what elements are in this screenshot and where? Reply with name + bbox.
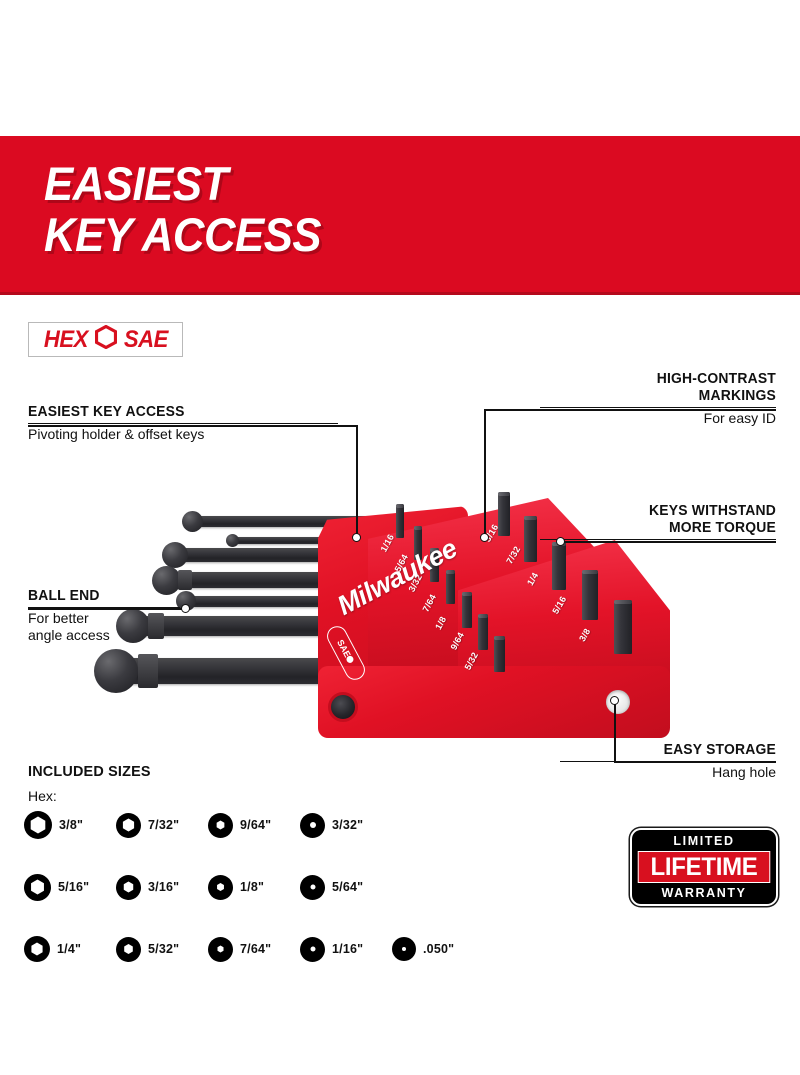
leader-line-easiest-key-access: [28, 425, 358, 427]
included-sizes-title: INCLUDED SIZES: [28, 763, 151, 780]
size-cell: 3/8": [24, 808, 116, 842]
hex-size-icon: [24, 811, 52, 839]
hex-size-icon: [116, 813, 141, 838]
leader-dot-easiest-key-access: [352, 533, 361, 542]
lifetime-warranty-badge: LIMITED LIFETIME WARRANTY: [630, 828, 778, 906]
leader-line-easy-storage: [614, 761, 776, 763]
leader-dot-easy-storage: [610, 696, 619, 705]
callout-subtitle: For better angle access: [28, 610, 180, 644]
leader-dot-ball-end: [181, 604, 190, 613]
size-label: 5/16": [58, 880, 89, 894]
hex-size-icon: [392, 937, 416, 961]
callout-subtitle: Hang hole: [560, 764, 776, 781]
leader-line-high-contrast-markings: [484, 409, 776, 411]
size-label: 3/8": [59, 818, 83, 832]
size-label: 1/4": [57, 942, 81, 956]
callout-rule: [540, 539, 776, 540]
leader-dot-high-contrast-markings: [480, 533, 489, 542]
callout-keys-withstand-more-torque: KEYS WITHSTAND MORE TORQUE: [540, 503, 776, 540]
callout-heading: EASIEST KEY ACCESS: [28, 404, 326, 421]
ball-end-tip: [162, 542, 188, 568]
included-sizes-grid: 3/8"7/32"9/64"3/32"5/16"3/16"1/8"5/64"1/…: [24, 808, 444, 966]
hexagon-outline-icon: [95, 325, 117, 354]
hex-key-shaft: [396, 504, 404, 538]
hex-key-shaft: [462, 592, 472, 628]
size-label: 7/64": [240, 942, 271, 956]
hex-key-collar: [138, 654, 158, 688]
callout-heading: KEYS WITHSTAND MORE TORQUE: [549, 503, 776, 537]
hex-key-collar: [178, 570, 192, 590]
size-cell: 7/64": [208, 932, 300, 966]
hex-size-icon: [24, 874, 51, 901]
hex-key-shaft: [498, 492, 510, 536]
callout-ball-end: BALL END For better angle access: [28, 588, 180, 644]
warranty-bottom-label: WARRANTY: [661, 886, 746, 900]
size-cell: 3/16": [116, 870, 208, 904]
leader-line-easy-storage: [614, 700, 616, 762]
size-cell-empty: [392, 870, 484, 904]
hex-key-shaft: [478, 614, 488, 650]
size-label: 9/64": [240, 818, 271, 832]
included-sizes-subtitle: Hex:: [28, 788, 57, 804]
leader-line-easiest-key-access: [356, 425, 358, 537]
callout-rule: [28, 423, 338, 424]
page-title: EASIEST KEY ACCESS: [44, 158, 321, 260]
hex-hole: [30, 880, 45, 895]
ball-end-tip: [182, 511, 203, 532]
size-label: 1/8": [240, 880, 264, 894]
callout-high-contrast-markings: HIGH-CONTRAST MARKINGS For easy ID: [540, 371, 776, 427]
callout-rule: [540, 407, 776, 408]
hex-hole: [122, 819, 135, 832]
size-cell-empty: [392, 808, 484, 842]
hex-hole: [124, 944, 134, 954]
callout-heading: HIGH-CONTRAST MARKINGS: [549, 371, 776, 405]
hex-hole: [217, 883, 225, 891]
hex-key-shaft: [582, 570, 598, 620]
size-label: 3/16": [148, 880, 179, 894]
size-label: 7/32": [148, 818, 179, 832]
hex-size-icon: [116, 937, 141, 962]
hex-hole: [216, 821, 225, 830]
sae-pill-label: SAE: [335, 638, 353, 659]
leader-line-ball-end: [28, 608, 184, 610]
callout-subtitle: For easy ID: [540, 410, 776, 427]
size-cell: 5/64": [300, 870, 392, 904]
ball-end-tip: [94, 649, 138, 693]
badge-hex-label: HEX: [44, 326, 88, 354]
size-cell: 5/16": [24, 870, 116, 904]
badge-sae-label: SAE: [123, 326, 167, 354]
hex-size-icon: [208, 813, 233, 838]
hex-size-icon: [208, 937, 233, 962]
size-cell: 9/64": [208, 808, 300, 842]
hex-hole: [30, 817, 47, 834]
size-label: .050": [423, 942, 454, 956]
hex-hole: [310, 947, 315, 952]
callout-subtitle: Pivoting holder & offset keys: [28, 426, 338, 443]
leader-dot-keys-withstand-more-torque: [556, 537, 565, 546]
size-cell: 3/32": [300, 808, 392, 842]
hex-hole: [217, 946, 224, 953]
hex-size-icon: [300, 813, 325, 838]
hex-hole: [31, 943, 44, 956]
size-cell: 1/8": [208, 870, 300, 904]
callout-easiest-key-access: EASIEST KEY ACCESS Pivoting holder & off…: [28, 404, 338, 443]
hex-hole: [123, 882, 134, 893]
hex-key-shaft: [524, 516, 537, 562]
hex-hole: [402, 947, 406, 951]
size-cell: 1/4": [24, 932, 116, 966]
size-cell: 5/32": [116, 932, 208, 966]
hex-hole: [310, 885, 315, 890]
leader-line-high-contrast-markings: [484, 409, 486, 537]
size-cell: 7/32": [116, 808, 208, 842]
hex-size-icon: [24, 936, 50, 962]
size-label: 1/16": [332, 942, 363, 956]
ball-end-tip: [226, 534, 239, 547]
size-label: 3/32": [332, 818, 363, 832]
hex-hole: [310, 822, 316, 828]
header-red-band: EASIEST KEY ACCESS: [0, 136, 800, 295]
hex-key-shaft: [494, 636, 505, 672]
warranty-middle-label: LIFETIME: [638, 851, 770, 883]
size-label: 5/64": [332, 880, 363, 894]
size-label: 5/32": [148, 942, 179, 956]
hex-size-icon: [300, 875, 325, 900]
warranty-top-label: LIMITED: [673, 834, 734, 848]
hex-sae-badge: HEX SAE: [28, 322, 183, 357]
hex-key-shaft: [446, 570, 455, 604]
size-cell: .050": [392, 932, 484, 966]
size-cell: 1/16": [300, 932, 392, 966]
hex-size-icon: [300, 937, 325, 962]
callout-heading: BALL END: [28, 588, 174, 605]
callout-heading: EASY STORAGE: [569, 742, 776, 759]
hex-key-shaft: [552, 542, 566, 590]
pivot-hole: [328, 692, 358, 722]
hex-size-icon: [208, 875, 233, 900]
hex-size-icon: [116, 875, 141, 900]
hex-key-shaft: [614, 600, 632, 654]
leader-line-keys-withstand-more-torque: [560, 541, 776, 543]
